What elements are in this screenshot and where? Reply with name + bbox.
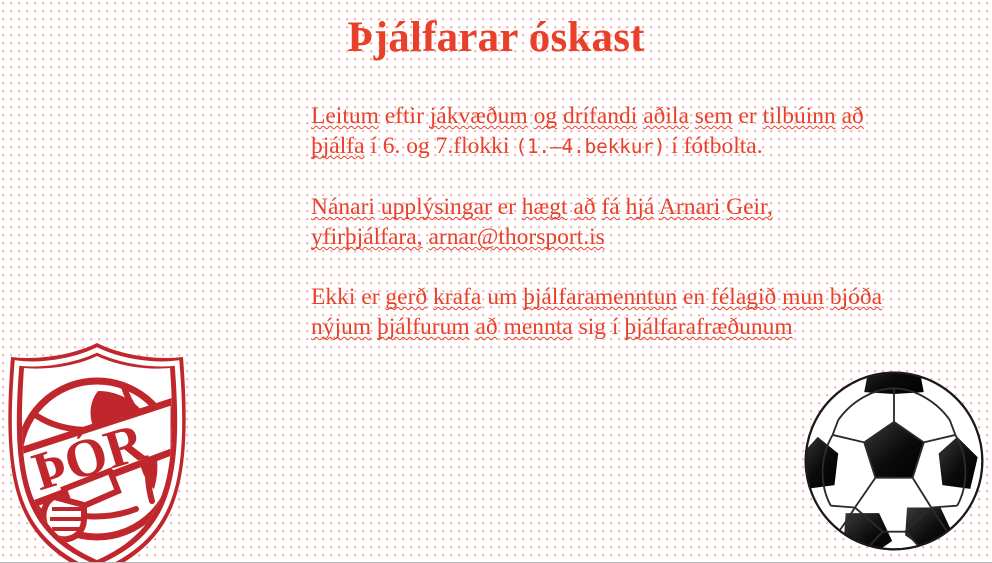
spellcheck-flagged-word: mun: [782, 284, 824, 310]
spellcheck-flagged-word: bjóða: [830, 284, 882, 310]
page-title: Þjálfarar óskast: [0, 12, 992, 64]
spellcheck-flagged-word: að: [842, 103, 864, 129]
spellcheck-flagged-word: Arnari: [659, 194, 720, 220]
spellcheck-flagged-word: hjá: [626, 194, 655, 220]
spellcheck-flagged-word: Geir,: [726, 194, 773, 220]
spellcheck-flagged-word: fá: [601, 194, 619, 220]
text-run: er: [738, 103, 756, 129]
paragraph-3: Ekki er gerð krafa um þjálfaramenntun en…: [311, 282, 979, 342]
spellcheck-flagged-word: félagið: [711, 284, 776, 310]
spellcheck-flagged-word: Leitum: [311, 103, 379, 129]
soccer-ball-image: [801, 368, 987, 554]
text-run: (1.–4.bekkur): [515, 135, 665, 158]
spellcheck-flagged-word: þjálfarafræðunum: [624, 314, 792, 340]
spellcheck-flagged-word: að: [573, 194, 595, 220]
slide-canvas: Þjálfarar óskast Leitum eftir jákvæðum o…: [0, 0, 992, 563]
spellcheck-flagged-word: krafa: [433, 284, 481, 310]
text-line: Nánari upplýsingar er hægt að fá hjá Arn…: [311, 192, 979, 222]
spellcheck-flagged-word: og: [534, 103, 558, 129]
text-run: eftir: [385, 103, 424, 129]
paragraph-1: Leitum eftir jákvæðum og drífandi aðila …: [311, 101, 979, 162]
spellcheck-flagged-word: upplýsingar: [381, 194, 492, 220]
spellcheck-flagged-word: Nánari: [311, 194, 375, 220]
spellcheck-flagged-word: þjálfa: [311, 133, 365, 159]
text-run: Ekki: [311, 284, 355, 310]
text-line: Ekki er gerð krafa um þjálfaramenntun en…: [311, 282, 979, 312]
paragraph-2: Nánari upplýsingar er hægt að fá hjá Arn…: [311, 192, 979, 252]
text-line: nýjum þjálfurum að mennta sig í þjálfara…: [311, 312, 979, 342]
spellcheck-flagged-word: drífandi: [563, 103, 637, 129]
spellcheck-flagged-word: þjálfurum: [377, 314, 470, 340]
spellcheck-flagged-word: sem: [695, 103, 733, 129]
text-run: er: [361, 284, 379, 310]
spellcheck-flagged-word: yfirþjálfara,: [311, 224, 423, 250]
thor-crest-logo: ÞÓR: [0, 339, 196, 563]
spellcheck-flagged-word: jákvæðum: [430, 103, 528, 129]
text-run: er: [498, 194, 516, 220]
spellcheck-flagged-word: nýjum: [311, 314, 371, 340]
spellcheck-flagged-word: aðila: [643, 103, 689, 129]
text-run: í 6.: [370, 133, 400, 159]
spellcheck-flagged-word: hægt: [522, 194, 568, 220]
text-run: í fótbolta.: [671, 133, 762, 159]
text-run: sig: [579, 314, 606, 340]
spellcheck-flagged-word: að: [475, 314, 497, 340]
text-line: þjálfa í 6. og 7.flokki (1.–4.bekkur) í …: [311, 131, 979, 162]
text-run: flokki: [453, 133, 509, 159]
text-line: Leitum eftir jákvæðum og drífandi aðila …: [311, 101, 979, 131]
spellcheck-flagged-word: arnar@thorsport.is: [428, 224, 604, 250]
spellcheck-flagged-word: tilbúinn: [763, 103, 836, 129]
spellcheck-flagged-word: þjálfaramenntun: [523, 284, 677, 310]
spellcheck-flagged-word: mennta: [504, 314, 573, 340]
body-copy: Leitum eftir jákvæðum og drífandi aðila …: [311, 101, 979, 342]
text-run: en: [683, 284, 705, 310]
text-run: um: [487, 284, 517, 310]
spellcheck-flagged-word: gerð: [385, 284, 427, 310]
text-line: yfirþjálfara, arnar@thorsport.is: [311, 222, 979, 252]
text-run: og 7.: [406, 133, 453, 159]
